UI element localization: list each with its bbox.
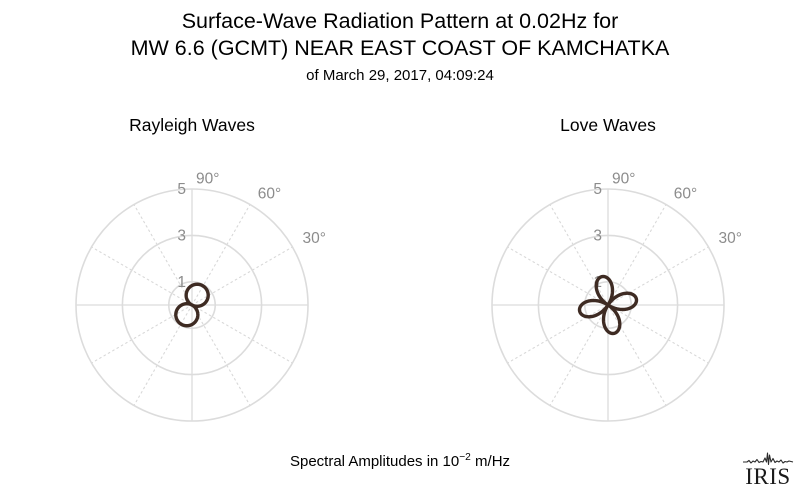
angle-tick-label-30: 30°	[719, 230, 742, 247]
iris-logo: IRIS	[741, 452, 795, 490]
panel-title-rayleigh: Rayleigh Waves	[92, 115, 292, 136]
angle-tick-label-90: 90°	[196, 170, 219, 187]
iris-wordmark: IRIS	[741, 465, 795, 489]
polar-axes: 13530°60°90°	[468, 165, 748, 445]
figure-header: Surface-Wave Radiation Pattern at 0.02Hz…	[0, 8, 800, 87]
angle-tick-label-30: 30°	[303, 230, 326, 247]
angle-tick-label-60: 60°	[258, 185, 281, 202]
spectral-amplitude-caption: Spectral Amplitudes in 10−2 m/Hz	[0, 452, 800, 470]
event-datetime-subtitle: of March 29, 2017, 04:09:24	[0, 65, 800, 87]
title-line-1: Surface-Wave Radiation Pattern at 0.02Hz…	[0, 8, 800, 35]
figure-canvas: Surface-Wave Radiation Pattern at 0.02Hz…	[0, 0, 800, 496]
radial-tick-label-5: 5	[593, 181, 602, 198]
polar-axes: 13530°60°90°	[52, 165, 332, 445]
polar-plot-love: 13530°60°90°	[468, 165, 748, 445]
caption-suffix: m/Hz	[471, 453, 510, 470]
angle-tick-label-60: 60°	[674, 185, 697, 202]
radial-tick-label-3: 3	[177, 227, 186, 244]
radial-tick-label-1: 1	[177, 274, 186, 291]
title-line-2: MW 6.6 (GCMT) NEAR EAST COAST OF KAMCHAT…	[0, 35, 800, 62]
angle-tick-label-90: 90°	[612, 170, 635, 187]
radial-tick-label-3: 3	[593, 227, 602, 244]
polar-plot-rayleigh: 13530°60°90°	[52, 165, 332, 445]
caption-exponent: −2	[459, 452, 471, 463]
radial-tick-label-5: 5	[177, 181, 186, 198]
caption-prefix: Spectral Amplitudes in 10	[290, 453, 459, 470]
panel-title-love: Love Waves	[508, 115, 708, 136]
